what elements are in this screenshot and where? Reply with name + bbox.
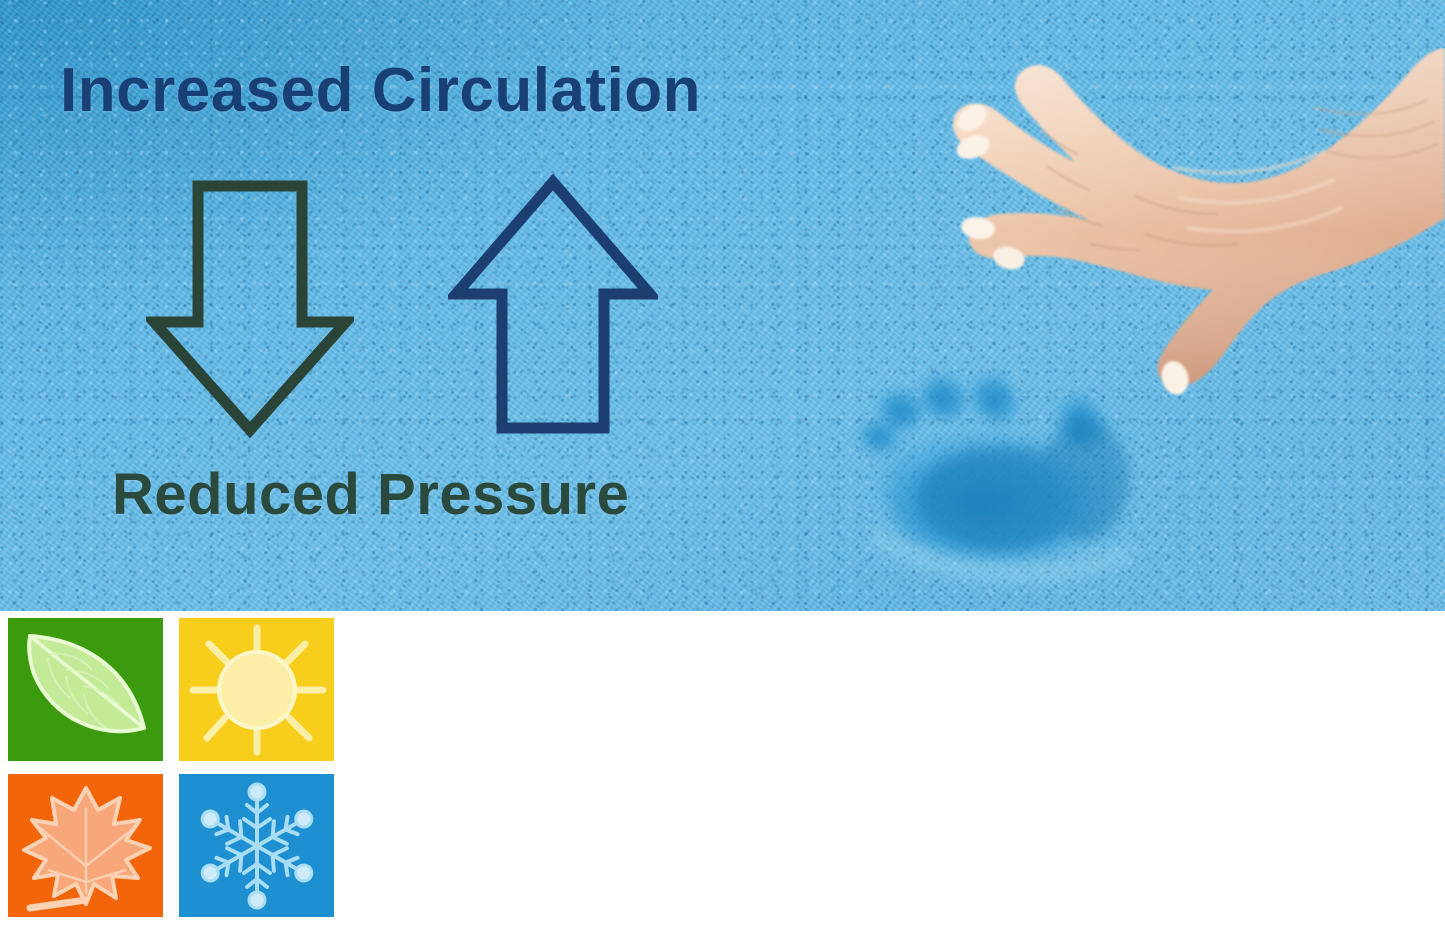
- tile-spring-leaf: [8, 618, 163, 761]
- headline-increased-circulation: Increased Circulation: [60, 60, 701, 122]
- leaf-icon: [8, 618, 163, 761]
- arrow-up-icon: [448, 174, 658, 436]
- tile-autumn-maple-leaf: [8, 774, 163, 917]
- snowflake-icon: [179, 774, 334, 917]
- tile-winter-snowflake: [179, 774, 334, 917]
- hand-photo: [845, 48, 1445, 468]
- memory-foam-photo: Increased Circulation Reduced Pressure: [0, 0, 1445, 611]
- season-icon-grid: [8, 618, 338, 920]
- maple-leaf-icon: [8, 774, 163, 917]
- headline-reduced-pressure: Reduced Pressure: [112, 466, 629, 524]
- product-feature-graphic: Increased Circulation Reduced Pressure: [0, 0, 1445, 927]
- feature-callout-band: 100% GEL-Infused Memory Foam with Temper…: [0, 611, 1445, 927]
- sun-icon: [179, 618, 334, 761]
- tile-summer-sun: [179, 618, 334, 761]
- arrow-down-icon: [146, 180, 354, 438]
